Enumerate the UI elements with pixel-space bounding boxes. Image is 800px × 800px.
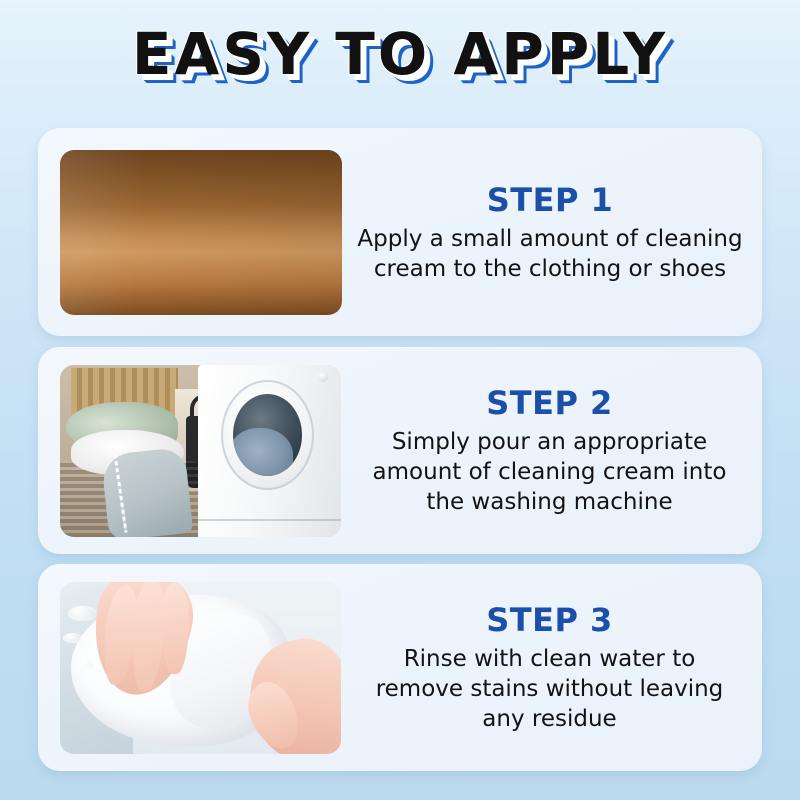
step-1-heading: STEP 1 (352, 181, 748, 219)
step-2-description: Simply pour an appropriate amount of cle… (370, 427, 730, 517)
step-card-1[interactable]: STEP 1 Apply a small amount of cleaning … (38, 128, 762, 336)
machine-dial-icon (318, 371, 328, 381)
step-3-image (60, 582, 341, 754)
laundry-inside-drum (233, 428, 294, 475)
step-card-2[interactable]: STEP 2 Simply pour an appropriate amount… (38, 347, 762, 554)
step-3-text-column: STEP 3 Rinse with clean water to remove … (341, 601, 762, 734)
step-1-text-column: STEP 1 Apply a small amount of cleaning … (342, 181, 762, 284)
washing-machine-body (198, 365, 341, 537)
step-3-description: Rinse with clean water to remove stains … (370, 644, 730, 734)
washing-machine-illustration (60, 365, 341, 537)
hands-rinsing-illustration (60, 582, 341, 754)
machine-door-ring (221, 380, 314, 490)
machine-drum (233, 394, 302, 475)
page-title-container: EASY TO APPLY (0, 22, 800, 86)
cleaning-cream-swatch-illustration (60, 150, 342, 315)
step-3-heading: STEP 3 (351, 601, 748, 639)
easy-to-apply-infographic: EASY TO APPLY STEP 1 Apply a small amoun… (0, 0, 800, 800)
step-2-heading: STEP 2 (351, 384, 748, 422)
step-2-text-column: STEP 2 Simply pour an appropriate amount… (341, 384, 762, 517)
step-1-image (60, 150, 342, 315)
step-2-image (60, 365, 341, 537)
water-bubble-1 (68, 606, 96, 621)
step-card-3[interactable]: STEP 3 Rinse with clean water to remove … (38, 564, 762, 771)
page-title: EASY TO APPLY (132, 22, 668, 86)
step-1-description: Apply a small amount of cleaning cream t… (352, 224, 748, 284)
water-bubble-3 (77, 661, 94, 670)
